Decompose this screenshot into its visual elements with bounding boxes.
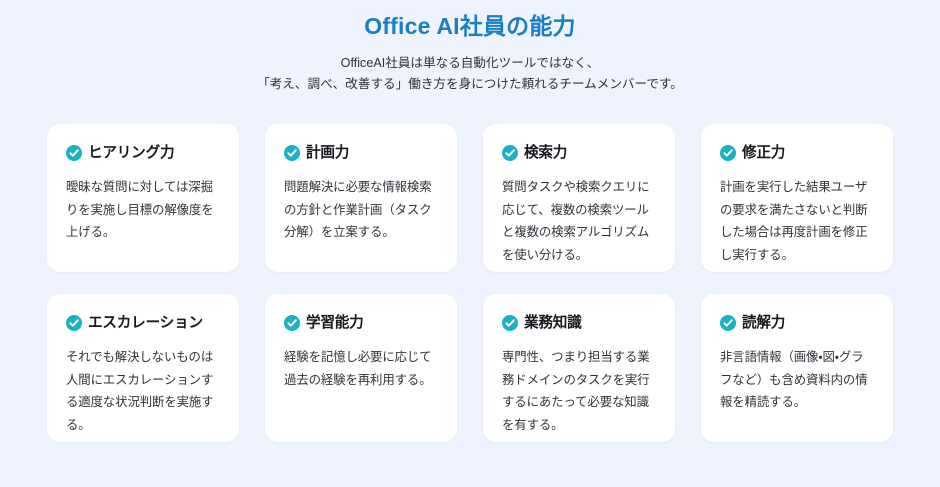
capability-card[interactable]: 業務知識 専門性、つまり担当する業務ドメインのタスクを実行するにあたって必要な知…: [483, 294, 675, 442]
subtitle-line-2: 「考え、調べ、改善する」働き方を身につけた頼れるチームメンバーです。: [160, 74, 780, 95]
card-header: 検索力: [502, 144, 656, 162]
card-header: 学習能力: [284, 314, 438, 332]
card-body: 経験を記憶し必要に応じて過去の経験を再利用する。: [284, 346, 438, 391]
check-circle-icon: [502, 145, 518, 161]
capability-card[interactable]: エスカレーション それでも解決しないものは人間にエスカレーションする適度な状況判…: [47, 294, 239, 442]
page-title: Office AI社員の能力: [0, 11, 940, 41]
card-header: エスカレーション: [66, 314, 220, 332]
card-header: 業務知識: [502, 314, 656, 332]
capability-card[interactable]: 計画力 問題解決に必要な情報検索の方針と作業計画（タスク分解）を立案する。: [265, 124, 457, 272]
card-body: 曖昧な質問に対しては深掘りを実施し目標の解像度を上げる。: [66, 176, 220, 244]
card-header: 読解力: [720, 314, 874, 332]
section-subtitle: OfficeAI社員は単なる自動化ツールではなく、 「考え、調べ、改善する」働き…: [160, 53, 780, 95]
card-title: 業務知識: [524, 314, 582, 332]
check-circle-icon: [720, 145, 736, 161]
check-circle-icon: [284, 145, 300, 161]
card-title: 検索力: [524, 144, 567, 162]
card-title: ヒアリング力: [88, 144, 174, 162]
card-header: ヒアリング力: [66, 144, 220, 162]
card-title: 修正力: [742, 144, 785, 162]
check-circle-icon: [66, 145, 82, 161]
capability-card-grid: ヒアリング力 曖昧な質問に対しては深掘りを実施し目標の解像度を上げる。 計画力 …: [47, 124, 893, 442]
card-header: 計画力: [284, 144, 438, 162]
check-circle-icon: [720, 315, 736, 331]
card-header: 修正力: [720, 144, 874, 162]
capability-section: Office AI社員の能力 OfficeAI社員は単なる自動化ツールではなく、…: [0, 0, 940, 487]
card-body: 計画を実行した結果ユーザの要求を満たさないと判断した場合は再度計画を修正し実行す…: [720, 176, 874, 266]
card-title: エスカレーション: [88, 314, 203, 332]
capability-card[interactable]: 修正力 計画を実行した結果ユーザの要求を満たさないと判断した場合は再度計画を修正…: [701, 124, 893, 272]
card-body: それでも解決しないものは人間にエスカレーションする適度な状況判断を実施する。: [66, 346, 220, 436]
card-body: 専門性、つまり担当する業務ドメインのタスクを実行するにあたって必要な知識を有する…: [502, 346, 656, 436]
capability-card[interactable]: 学習能力 経験を記憶し必要に応じて過去の経験を再利用する。: [265, 294, 457, 442]
capability-card[interactable]: 検索力 質問タスクや検索クエリに応じて、複数の検索ツールと複数の検索アルゴリズム…: [483, 124, 675, 272]
check-circle-icon: [502, 315, 518, 331]
capability-card[interactable]: 読解力 非言語情報（画像・図・グラフなど）も含め資料内の情報を精読する。: [701, 294, 893, 442]
card-body: 問題解決に必要な情報検索の方針と作業計画（タスク分解）を立案する。: [284, 176, 438, 244]
card-body: 質問タスクや検索クエリに応じて、複数の検索ツールと複数の検索アルゴリズムを使い分…: [502, 176, 656, 266]
card-body: 非言語情報（画像・図・グラフなど）も含め資料内の情報を精読する。: [720, 346, 874, 414]
card-title: 学習能力: [306, 314, 364, 332]
check-circle-icon: [66, 315, 82, 331]
section-header: Office AI社員の能力 OfficeAI社員は単なる自動化ツールではなく、…: [0, 0, 940, 95]
card-title: 読解力: [742, 314, 785, 332]
subtitle-line-1: OfficeAI社員は単なる自動化ツールではなく、: [160, 53, 780, 74]
capability-card[interactable]: ヒアリング力 曖昧な質問に対しては深掘りを実施し目標の解像度を上げる。: [47, 124, 239, 272]
check-circle-icon: [284, 315, 300, 331]
card-title: 計画力: [306, 144, 349, 162]
